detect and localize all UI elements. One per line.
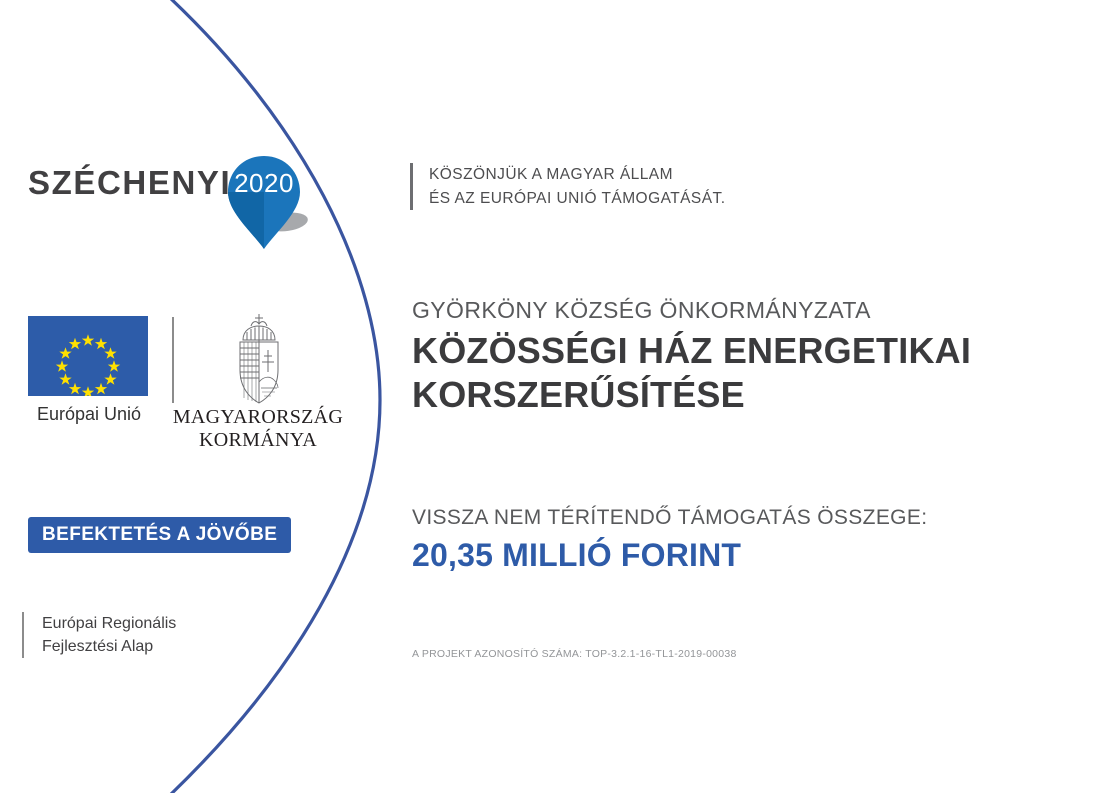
grant-amount: 20,35 MILLIÓ FORINT bbox=[412, 536, 1052, 574]
erdf-line2: Fejlesztési Alap bbox=[42, 635, 176, 658]
erdf-fund-label: Európai Regionális Fejlesztési Alap bbox=[22, 612, 176, 658]
szechenyi-2020-logo: SZÉCHENYI 2020 bbox=[28, 160, 308, 260]
invest-in-future-badge: BEFEKTETÉS A JÖVŐBE bbox=[28, 517, 291, 553]
pin-year-label: 2020 bbox=[230, 170, 298, 196]
thanks-line1: KÖSZÖNJÜK A MAGYAR ÁLLAM bbox=[429, 163, 725, 187]
grant-label: VISSZA NEM TÉRÍTENDŐ TÁMOGATÁS ÖSSZEGE: bbox=[412, 505, 1052, 531]
project-title: KÖZÖSSÉGI HÁZ ENERGETIKAI KORSZERŰSÍTÉSE bbox=[412, 329, 1052, 417]
logo-divider bbox=[172, 317, 174, 403]
thanks-line2: ÉS AZ EURÓPAI UNIÓ TÁMOGATÁSÁT. bbox=[429, 187, 725, 211]
hungary-caption-line1: MAGYARORSZÁG bbox=[168, 406, 348, 429]
project-title-line1: KÖZÖSSÉGI HÁZ ENERGETIKAI bbox=[412, 329, 1052, 373]
project-identifier: A PROJEKT AZONOSÍTÓ SZÁMA: TOP-3.2.1-16-… bbox=[412, 648, 737, 661]
hungary-coat-of-arms-icon bbox=[224, 310, 294, 410]
project-heading-block: GYÖRKÖNY KÖZSÉG ÖNKORMÁNYZATA KÖZÖSSÉGI … bbox=[412, 296, 1052, 417]
hungary-government-caption: MAGYARORSZÁG KORMÁNYA bbox=[168, 406, 348, 452]
poster-canvas: SZÉCHENYI 2020 bbox=[0, 0, 1117, 793]
eu-hungary-logo-group: Európai Unió bbox=[28, 316, 328, 456]
eu-flag-icon bbox=[28, 316, 148, 396]
project-owner: GYÖRKÖNY KÖZSÉG ÖNKORMÁNYZATA bbox=[412, 296, 1052, 325]
hungary-caption-line2: KORMÁNYA bbox=[168, 429, 348, 452]
szechenyi-wordmark: SZÉCHENYI bbox=[28, 166, 231, 199]
eu-flag-caption: Európai Unió bbox=[27, 404, 151, 425]
erdf-line1: Európai Regionális bbox=[42, 612, 176, 635]
project-title-line2: KORSZERŰSÍTÉSE bbox=[412, 373, 1052, 417]
grant-amount-block: VISSZA NEM TÉRÍTENDŐ TÁMOGATÁS ÖSSZEGE: … bbox=[412, 505, 1052, 575]
thanks-statement: KÖSZÖNJÜK A MAGYAR ÁLLAM ÉS AZ EURÓPAI U… bbox=[410, 163, 725, 210]
map-pin-icon: 2020 bbox=[224, 154, 314, 254]
